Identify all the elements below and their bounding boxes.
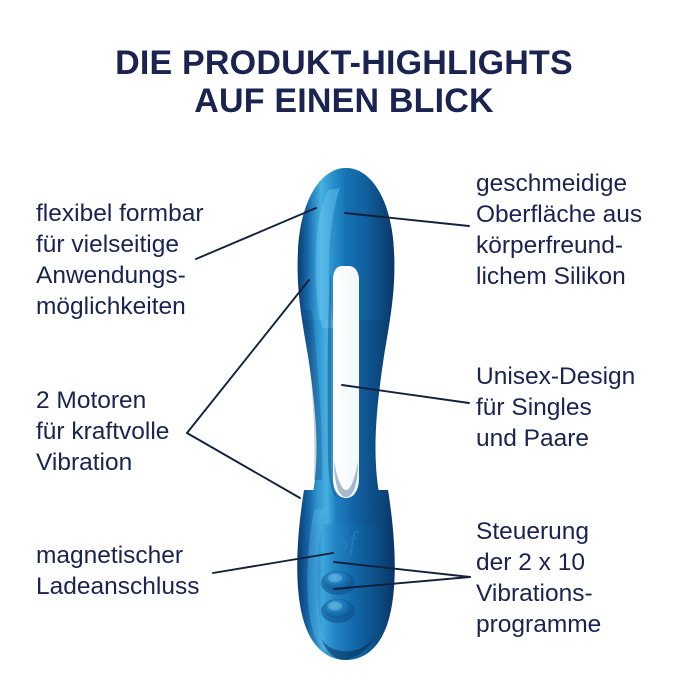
infographic-page: DIE PRODUKT-HIGHLIGHTS AUF EINEN BLICK <box>0 0 688 688</box>
page-title: DIE PRODUKT-HIGHLIGHTS AUF EINEN BLICK <box>0 44 688 120</box>
callout-silicone-line-2: Oberfläche aus <box>476 199 642 230</box>
callout-flexibel-formbar: flexibel formbar für vielseitige Anwendu… <box>36 198 203 322</box>
callout-control-line-1: Steuerung <box>476 516 601 547</box>
callout-control-line-4: programme <box>476 609 601 640</box>
callout-flexible-line-3: Anwendungs- <box>36 260 203 291</box>
callout-unisex-line-1: Unisex-Design <box>476 361 635 392</box>
control-button-lower <box>321 599 355 623</box>
callout-steuerung: Steuerung der 2 x 10 Vibrations- program… <box>476 516 601 640</box>
callout-unisex-design: Unisex-Design für Singles und Paare <box>476 361 635 454</box>
callout-magnetic-line-1: magnetischer <box>36 540 199 571</box>
callout-silicone-line-4: lichem Silikon <box>476 261 642 292</box>
callout-magnetic-line-2: Ladeanschluss <box>36 571 199 602</box>
product-illustration: Sf <box>256 160 436 660</box>
callout-control-line-2: der 2 x 10 <box>476 547 601 578</box>
callout-magnetischer-ladeanschluss: magnetischer Ladeanschluss <box>36 540 199 602</box>
callout-2-motoren: 2 Motoren für kraftvolle Vibration <box>36 385 169 478</box>
callout-flexible-line-1: flexibel formbar <box>36 198 203 229</box>
callout-unisex-line-2: für Singles <box>476 392 635 423</box>
callout-unisex-line-3: und Paare <box>476 423 635 454</box>
product-slot <box>333 266 359 498</box>
control-button-upper <box>321 571 355 595</box>
callout-motors-line-1: 2 Motoren <box>36 385 169 416</box>
callout-geschmeidige-oberflaeche: geschmeidige Oberfläche aus körperfreund… <box>476 168 642 292</box>
callout-flexible-line-2: für vielseitige <box>36 229 203 260</box>
callout-motors-line-2: für kraftvolle <box>36 416 169 447</box>
callout-silicone-line-1: geschmeidige <box>476 168 642 199</box>
callout-control-line-3: Vibrations- <box>476 578 601 609</box>
callout-motors-line-3: Vibration <box>36 447 169 478</box>
page-title-line-1: DIE PRODUKT-HIGHLIGHTS <box>0 44 688 82</box>
callout-flexible-line-4: möglichkeiten <box>36 291 203 322</box>
page-title-line-2: AUF EINEN BLICK <box>0 82 688 120</box>
callout-silicone-line-3: körperfreund- <box>476 230 642 261</box>
